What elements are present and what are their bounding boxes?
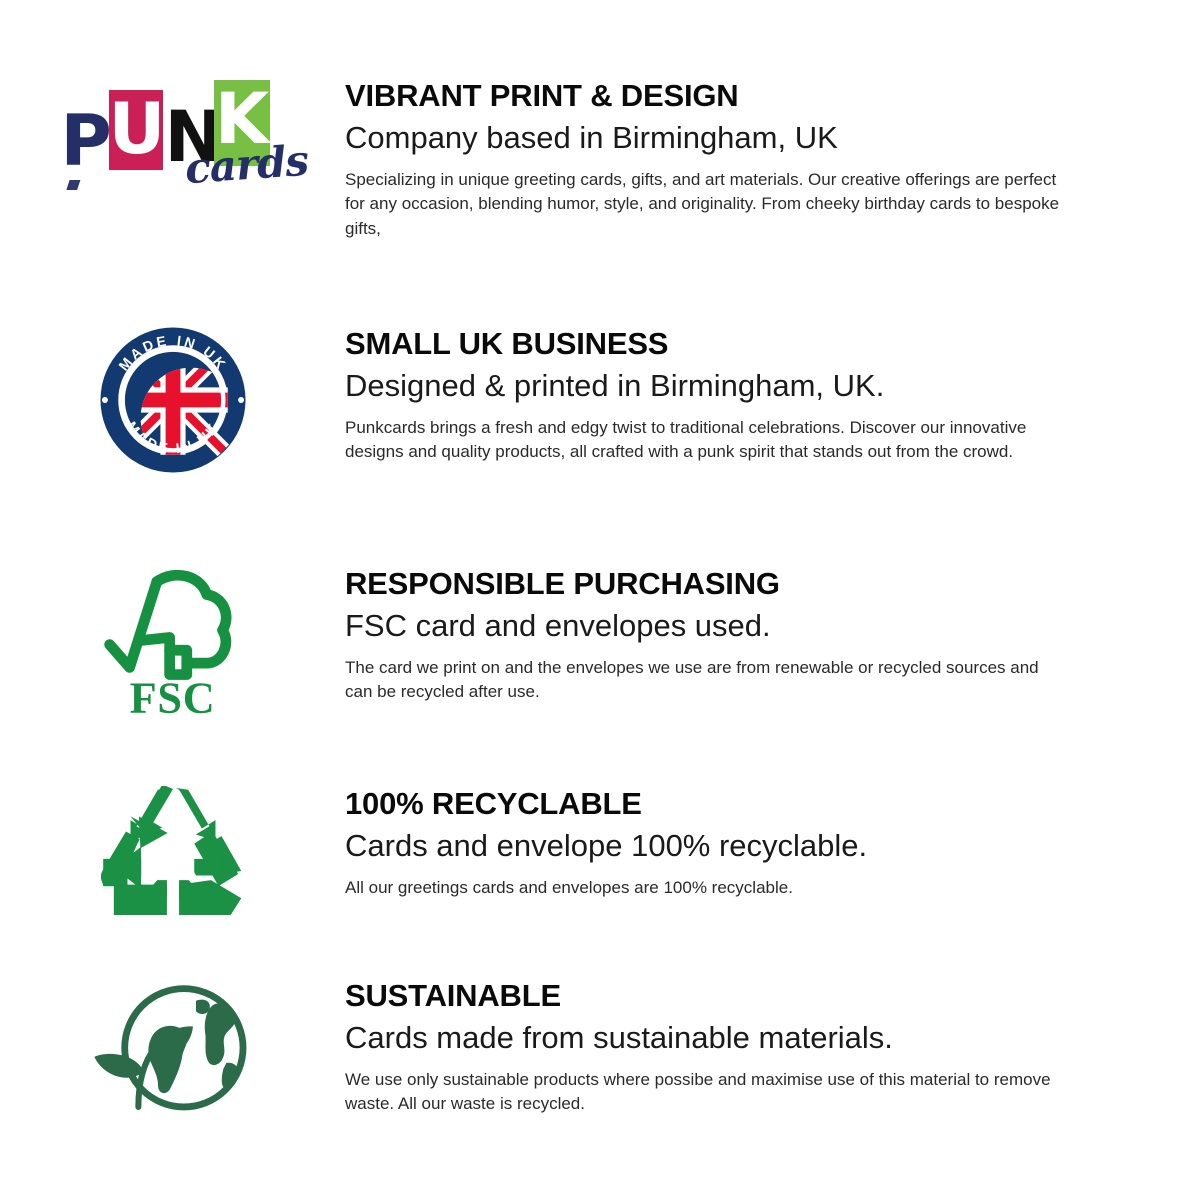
feature-text-cell: VIBRANT PRINT & DESIGN Company based in … [345,78,1200,241]
feature-text-cell: SMALL UK BUSINESS Designed & printed in … [345,326,1200,465]
feature-body: Specializing in unique greeting cards, g… [345,168,1067,242]
feature-item-sustainable: SUSTAINABLE Cards made from sustainable … [0,978,1200,1117]
feature-body: The card we print on and the envelopes w… [345,656,1067,705]
feature-subtitle: FSC card and envelopes used. [345,607,1100,644]
feature-item-vibrant-print-design: P U N K cards VIBRANT PRINT & DESIGN Com… [0,78,1200,241]
feature-icon-cell [0,786,345,918]
globe-plant-icon [85,978,260,1113]
feature-subtitle: Cards made from sustainable materials. [345,1019,1100,1056]
fsc-tree-icon: FSC [100,566,245,716]
made-in-uk-badge-icon: MADE IN UK MADE IN UK [99,326,247,474]
feature-icon-cell: FSC [0,566,345,716]
feature-icon-cell: MADE IN UK MADE IN UK [0,326,345,474]
feature-panel: P U N K cards VIBRANT PRINT & DESIGN Com… [0,0,1200,1200]
feature-subtitle: Designed & printed in Birmingham, UK. [345,367,1100,404]
feature-item-small-uk-business: MADE IN UK MADE IN UK SMALL UK BUSINESS … [0,326,1200,474]
feature-body: All our greetings cards and envelopes ar… [345,876,1067,901]
punkcards-logo: P U N K cards [57,78,289,190]
recycle-icon [97,786,249,918]
feature-icon-cell: P U N K cards [0,78,345,190]
feature-subtitle: Company based in Birmingham, UK [345,119,1100,156]
fsc-label: FSC [130,673,216,716]
feature-icon-cell [0,978,345,1113]
feature-title: 100% RECYCLABLE [345,786,1100,823]
feature-title: RESPONSIBLE PURCHASING [345,566,1100,603]
feature-subtitle: Cards and envelope 100% recyclable. [345,827,1100,864]
feature-item-100-recyclable: 100% RECYCLABLE Cards and envelope 100% … [0,786,1200,918]
punk-cards-wordmark: cards [183,136,309,193]
feature-text-cell: RESPONSIBLE PURCHASING FSC card and enve… [345,566,1200,705]
feature-item-responsible-purchasing: FSC RESPONSIBLE PURCHASING FSC card and … [0,566,1200,716]
punk-letter-u-icon: U [109,90,163,170]
feature-body: We use only sustainable products where p… [345,1068,1067,1117]
feature-text-cell: SUSTAINABLE Cards made from sustainable … [345,978,1200,1117]
feature-text-cell: 100% RECYCLABLE Cards and envelope 100% … [345,786,1200,900]
feature-body: Punkcards brings a fresh and edgy twist … [345,416,1067,465]
feature-title: SUSTAINABLE [345,978,1100,1015]
feature-title: VIBRANT PRINT & DESIGN [345,78,1100,115]
punk-letter-p-icon: P [61,102,111,180]
feature-title: SMALL UK BUSINESS [345,326,1100,363]
